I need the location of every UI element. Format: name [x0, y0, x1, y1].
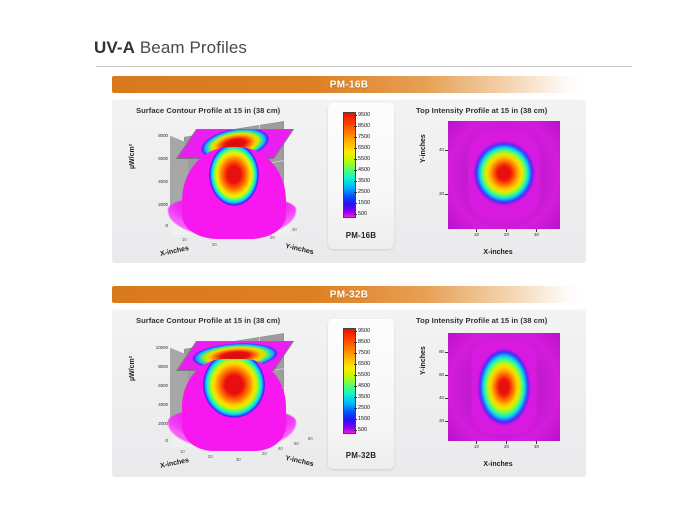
colorbar-tick: 9500: [358, 328, 370, 334]
surface-plot-title: Surface Contour Profile at 15 in (38 cm): [136, 106, 280, 115]
colorbar-tick: 7500: [358, 350, 370, 356]
section-header-label: PM-32B: [112, 289, 586, 300]
surface-y-axis-label: Y-inches: [285, 455, 315, 468]
colorbar-tick: 3500: [358, 394, 370, 400]
colorbar-tick: 8500: [358, 339, 370, 345]
colorbar-tick: 6500: [358, 361, 370, 367]
colorbar-device-name: PM-32B: [328, 451, 394, 460]
page-title-strong: UV-A: [94, 38, 135, 57]
z-tick: 2000: [158, 421, 168, 426]
surface-z-axis-label: µW/cm²: [129, 356, 136, 381]
colorbar-tick: 1500: [358, 200, 370, 206]
heatmap-x-tick: 30: [534, 444, 539, 449]
heatmap-x-tick: 10: [474, 444, 479, 449]
surface-z-axis-label: µW/cm²: [129, 144, 136, 169]
surface-plot-title: Surface Contour Profile at 15 in (38 cm): [136, 316, 280, 325]
colorbar-tick-labels: 9500 8500 7500 6500 5500 4500 3500 2500 …: [356, 323, 390, 437]
z-tick: 6000: [158, 383, 168, 388]
top-intensity-heatmap: Y-inches 40 20 10 20 30 X-inches: [412, 117, 584, 257]
surface-3d-box: [170, 341, 294, 441]
colorbar-tick-labels: 9500 8500 7500 6500 5500 4500 3500 2500 …: [356, 107, 390, 221]
surface-x-axis-label: X-inches: [160, 245, 190, 258]
colorbar-tick: 2500: [358, 405, 370, 411]
colorbar-tick: 4500: [358, 167, 370, 173]
surface-z-ticks: 8000 6000 4000 2000 0: [144, 133, 168, 229]
surface-z-ticks: 10000 8000 6000 4000 2000 0: [144, 345, 168, 441]
surface-x-tick: 30: [236, 457, 241, 462]
heatmap-x-axis-label: X-inches: [412, 249, 584, 256]
heatmap-field: [448, 121, 560, 229]
surface-x-tick: 10: [182, 237, 187, 242]
heatmap-beam-core: [472, 339, 537, 434]
colorbar-tick: 1500: [358, 416, 370, 422]
heatmap-beam-core: [468, 129, 540, 222]
colorbar-tick: 8500: [358, 123, 370, 129]
section-header-bar: PM-32B: [112, 286, 586, 303]
colorbar-tick: 9500: [358, 112, 370, 118]
z-tick: 0: [166, 438, 168, 443]
heatmap-field: [448, 333, 560, 441]
heatmap-x-ticks: 10 20 30: [448, 442, 560, 452]
surface-y-tick: 60: [294, 441, 299, 446]
z-tick: 4000: [158, 179, 168, 184]
heatmap-x-axis-label: X-inches: [412, 461, 584, 468]
colorbar-tick: 5500: [358, 156, 370, 162]
surface-y-tick: 20: [270, 235, 275, 240]
colorbar-tick: 2500: [358, 189, 370, 195]
heatmap-x-ticks: 10 20 30: [448, 230, 560, 240]
colorbar-legend-card: 9500 8500 7500 6500 5500 4500 3500 2500 …: [328, 103, 394, 249]
z-tick: 10000: [156, 345, 168, 350]
surface-x-tick: 10: [180, 449, 185, 454]
z-tick: 6000: [158, 156, 168, 161]
page-title: UV-A Beam Profiles: [94, 38, 247, 58]
heatmap-y-tick: 20: [439, 191, 444, 196]
heatmap-y-tick: 60: [439, 372, 444, 377]
page-title-rest: Beam Profiles: [135, 38, 247, 57]
surface-y-tick: 40: [292, 227, 297, 232]
section-content-panel: Surface Contour Profile at 15 in (38 cm)…: [112, 309, 586, 477]
top-intensity-heatmap: Y-inches 80 60 40 20 10 20 30 X-inches: [412, 329, 584, 469]
section-pm-32b: PM-32B Surface Contour Profile at 15 in …: [112, 286, 586, 477]
heatmap-x-tick: 20: [504, 232, 509, 237]
colorbar-tick: 500: [358, 427, 367, 433]
surface-x-tick: 20: [208, 454, 213, 459]
heatmap-x-tick: 10: [474, 232, 479, 237]
surface-y-tick: 20: [262, 451, 267, 456]
heatmap-x-tick: 20: [504, 444, 509, 449]
surface-x-tick: 20: [212, 242, 217, 247]
heatmap-plot-title: Top Intensity Profile at 15 in (38 cm): [416, 316, 547, 325]
surface-y-tick: 80: [308, 436, 313, 441]
z-tick: 8000: [158, 133, 168, 138]
heatmap-y-tick: 80: [439, 349, 444, 354]
surface-3d-box: [170, 129, 294, 229]
z-tick: 0: [166, 223, 168, 228]
section-content-panel: Surface Contour Profile at 15 in (38 cm)…: [112, 99, 586, 263]
heatmap-y-ticks: 40 20: [424, 121, 446, 229]
title-divider: [96, 66, 632, 67]
colorbar-legend-card: 9500 8500 7500 6500 5500 4500 3500 2500 …: [328, 319, 394, 469]
surface-intensity-mesh: [182, 359, 286, 451]
heatmap-y-tick: 40: [439, 147, 444, 152]
surface-intensity-mesh: [182, 147, 286, 239]
heatmap-x-tick: 30: [534, 232, 539, 237]
colorbar-tick: 500: [358, 211, 367, 217]
colorbar-tick: 4500: [358, 383, 370, 389]
surface-y-tick: 40: [278, 446, 283, 451]
colorbar-tick: 5500: [358, 372, 370, 378]
page-root: UV-A Beam Profiles PM-16B Surface Contou…: [0, 0, 700, 525]
section-pm-16b: PM-16B Surface Contour Profile at 15 in …: [112, 76, 586, 263]
section-header-label: PM-16B: [112, 79, 586, 90]
heatmap-y-tick: 40: [439, 395, 444, 400]
colorbar-tick: 6500: [358, 145, 370, 151]
colorbar-device-name: PM-16B: [328, 231, 394, 240]
z-tick: 4000: [158, 402, 168, 407]
z-tick: 8000: [158, 364, 168, 369]
heatmap-y-ticks: 80 60 40 20: [424, 333, 446, 441]
surface-y-axis-label: Y-inches: [285, 243, 315, 256]
section-header-bar: PM-16B: [112, 76, 586, 93]
z-tick: 2000: [158, 202, 168, 207]
colorbar-tick: 7500: [358, 134, 370, 140]
colorbar-tick: 3500: [358, 178, 370, 184]
surface-x-axis-label: X-inches: [160, 457, 190, 470]
heatmap-y-tick: 20: [439, 418, 444, 423]
surface-contour-plot: µW/cm² 8000 6000 4000 2000 0: [130, 117, 320, 257]
surface-contour-plot: µW/cm² 10000 8000 6000 4000 2000 0: [130, 329, 320, 469]
heatmap-plot-title: Top Intensity Profile at 15 in (38 cm): [416, 106, 547, 115]
